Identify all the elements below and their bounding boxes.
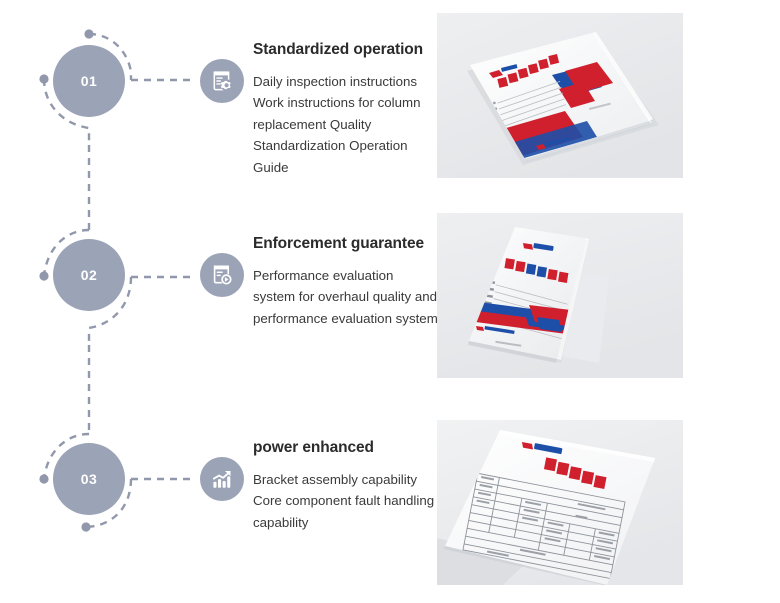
booklet-cover-photo: [437, 213, 683, 378]
step-text-block-02: Enforcement guarantee Performance evalua…: [253, 235, 438, 329]
step-number-circle-03[interactable]: 03: [53, 443, 125, 515]
endpoint-dot-1-top: [84, 29, 93, 38]
step-description: Performance evaluation system for overha…: [253, 265, 438, 330]
step-icon-circle-02[interactable]: document-clock-icon: [200, 253, 244, 297]
endpoint-dot-3-bottom: [81, 522, 90, 531]
step-photo-03: Printed form document with table grid an…: [437, 420, 683, 585]
endpoint-dot-3-left: [39, 474, 48, 483]
endpoint-dot-2-left: [39, 271, 48, 280]
document-gear-icon: [210, 69, 234, 93]
step-photo-01: Brochure cover with red and blue ribbon …: [437, 13, 683, 178]
step-number-circle-02[interactable]: 02: [53, 239, 125, 311]
step-title: power enhanced: [253, 439, 438, 458]
step-number-label: 02: [81, 267, 98, 283]
step-description: Bracket assembly capability Core compone…: [253, 469, 438, 534]
step-number-label: 01: [81, 73, 98, 89]
step-number-label: 03: [81, 471, 98, 487]
step-text-block-01: Standardized operation Daily inspection …: [253, 41, 438, 178]
step-title: Enforcement guarantee: [253, 235, 438, 254]
endpoint-dot-1-left: [39, 74, 48, 83]
step-description: Daily inspection instructions Work instr…: [253, 71, 438, 179]
step-number-circle-01[interactable]: 01: [53, 45, 125, 117]
brochure-cover-photo: [437, 13, 683, 178]
document-clock-icon: [210, 263, 234, 287]
step-text-block-03: power enhanced Bracket assembly capabili…: [253, 439, 438, 533]
form-document-photo: [437, 420, 683, 585]
bar-chart-arrow-icon: [210, 467, 234, 491]
step-photo-02: Standing booklet cover with red and blue…: [437, 213, 683, 378]
step-title: Standardized operation: [253, 41, 438, 60]
infographic-page: 01 document-gear-icon Standardized opera…: [0, 0, 780, 603]
step-icon-circle-03[interactable]: bar-chart-arrow-icon: [200, 457, 244, 501]
step-icon-circle-01[interactable]: document-gear-icon: [200, 59, 244, 103]
